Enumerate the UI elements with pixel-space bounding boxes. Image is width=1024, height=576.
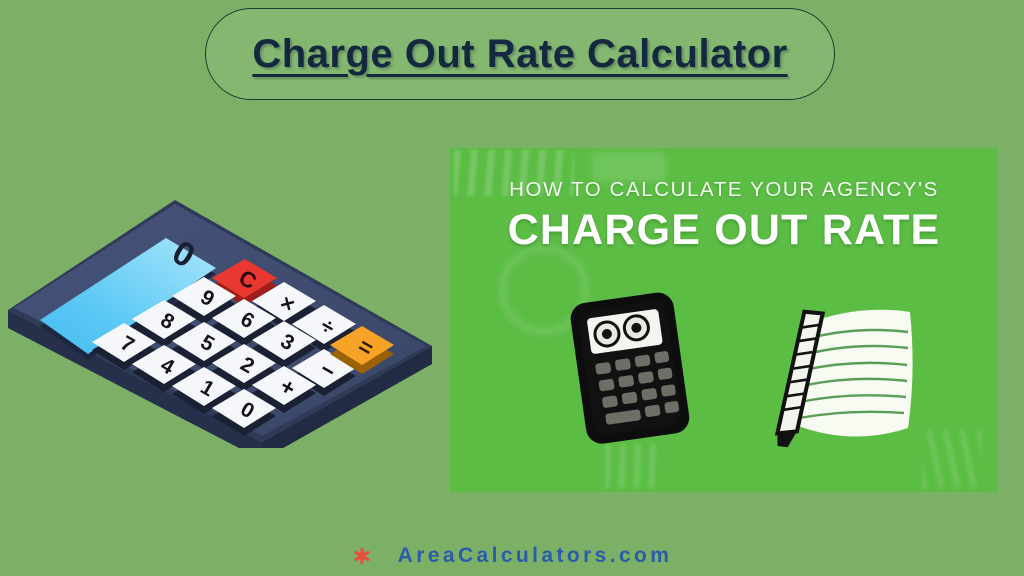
page-background: Charge Out Rate Calculator [0,0,1024,576]
asterisk-flower-svg [352,546,372,566]
card-watermark-stripes-bottom-left [605,444,663,488]
asterisk-petals [353,548,369,565]
hand-drawn-calculator-icon [568,288,708,448]
card-kicker-text: HOW TO CALCULATE YOUR AGENCY'S [450,178,998,202]
asterisk-flower-icon [352,546,372,566]
pencil-notepad-svg [740,276,940,476]
calculator-illustration: 0 C 7 [0,178,440,448]
calculator-svg: 0 C 7 [0,178,440,448]
page-title-banner: Charge Out Rate Calculator [205,8,835,100]
hand-drawn-calculator-svg [568,288,708,448]
card-heading: HOW TO CALCULATE YOUR AGENCY'S CHARGE OU… [450,178,998,255]
pencil-and-notepad-icon [740,276,940,476]
site-brand-text: AreaCalculators.com [398,544,673,568]
hero-card: HOW TO CALCULATE YOUR AGENCY'S CHARGE OU… [450,148,998,492]
site-footer: AreaCalculators.com [0,536,1024,576]
card-title-text: CHARGE OUT RATE [450,206,998,255]
page-title: Charge Out Rate Calculator [252,32,787,77]
